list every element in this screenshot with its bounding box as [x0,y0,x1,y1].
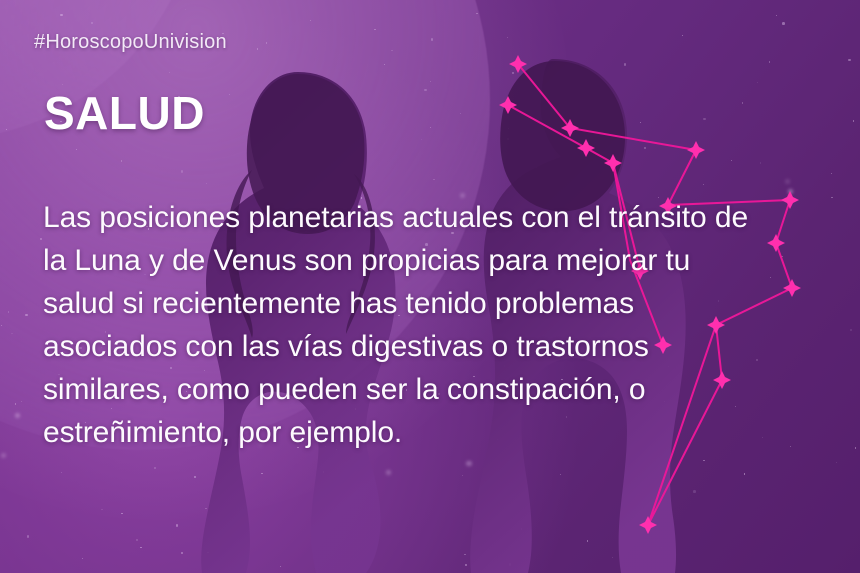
constellation-star [604,154,622,172]
page-title: SALUD [44,86,205,140]
constellation-star [499,96,517,114]
constellation-star [639,516,657,534]
body-line: salud si recientemente has tenido proble… [43,282,833,325]
body-line: estreñimiento, por ejemplo. [43,411,833,454]
body-line: similares, como pueden ser la constipaci… [43,368,833,411]
hashtag-label: #HoroscopoUnivision [34,31,227,54]
body-line: la Luna y de Venus son propicias para me… [43,239,833,282]
constellation-star [687,141,705,159]
body-line: asociados con las vías digestivas o tras… [43,325,833,368]
body-line: Las posiciones planetarias actuales con … [43,196,833,239]
horoscope-body-text: Las posiciones planetarias actuales con … [43,196,833,454]
constellation-star [577,139,595,157]
horoscope-card: #HoroscopoUnivision SALUD Las posiciones… [0,0,860,573]
